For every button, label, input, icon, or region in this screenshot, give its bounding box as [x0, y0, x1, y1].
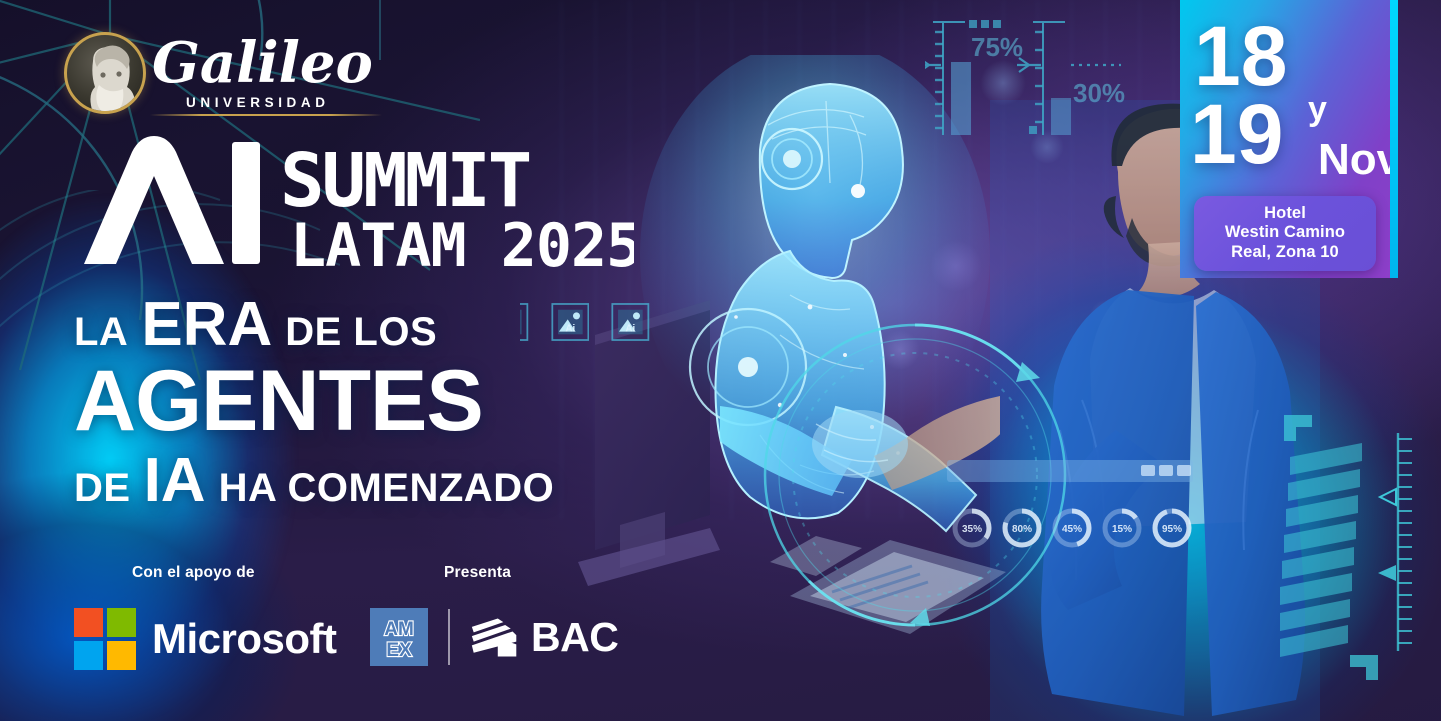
- hud-donut-label: 95%: [1162, 524, 1182, 535]
- sponsor-divider: [448, 609, 450, 665]
- bac-logo: BAC: [470, 614, 618, 661]
- hud-donut-gauges: 35%80%45%15%95%: [945, 460, 1195, 570]
- hud-donut-label: 45%: [1062, 524, 1082, 535]
- amex-mark-icon: AM EX: [370, 608, 428, 666]
- galileo-university-logo: Galileo UNIVERSIDAD: [64, 26, 394, 122]
- date-conjunction: y: [1308, 90, 1327, 129]
- logotype-latam-year: LATAM 2025: [290, 211, 634, 271]
- headline-la: LA: [74, 314, 128, 352]
- galileo-rule: [150, 114, 382, 116]
- headline-de-los: DE LOS: [285, 314, 437, 352]
- date-panel-edge: [1390, 0, 1398, 278]
- venue-line1: Hotel: [1200, 204, 1370, 223]
- presenting-sponsors: AM EX BAC: [370, 608, 618, 666]
- svg-text:Galileo: Galileo: [152, 30, 373, 96]
- hud-bar-label: 30%: [1073, 78, 1125, 108]
- amex-logo: AM EX: [370, 608, 428, 666]
- ai-summit-logotype: SUMMIT LATAM 2025: [74, 136, 634, 271]
- galileo-wordmark: Galileo: [150, 28, 390, 98]
- hud-slats: [1280, 415, 1441, 680]
- presents-label: Presenta: [444, 564, 511, 582]
- headline: LA ERA DE LOS AGENTES DE IA HA COMENZADO: [74, 296, 634, 510]
- event-banner: 75% 30% 35%80%45%15%95%: [0, 0, 1441, 721]
- headline-ha-comenzado: HA COMENZADO: [219, 470, 555, 508]
- galileo-subtitle: UNIVERSIDAD: [186, 95, 330, 110]
- hud-donut-label: 35%: [962, 524, 982, 535]
- headline-era: ERA: [141, 296, 272, 354]
- amex-line1: AM: [384, 619, 414, 640]
- hud-donut-label: 80%: [1012, 524, 1032, 535]
- microsoft-squares-icon: [74, 608, 136, 670]
- support-label: Con el apoyo de: [132, 564, 255, 582]
- microsoft-logo: Microsoft: [74, 608, 337, 670]
- galileo-seal: [64, 32, 146, 114]
- venue-line2: Westin Camino: [1200, 223, 1370, 242]
- date-day2: 19: [1190, 100, 1283, 169]
- bac-mark-icon: [470, 615, 520, 659]
- galileo-bust-icon: [79, 45, 137, 114]
- venue-badge: Hotel Westin Camino Real, Zona 10: [1194, 196, 1376, 271]
- headline-agentes: AGENTES: [74, 361, 483, 442]
- headline-ia: IA: [144, 452, 206, 510]
- date-day1: 18: [1194, 22, 1287, 91]
- microsoft-name: Microsoft: [152, 615, 337, 663]
- venue-line3: Real, Zona 10: [1200, 243, 1370, 262]
- date-panel: 18 y 19 Nov Hotel Westin Camino Real, Zo…: [1180, 0, 1390, 278]
- sponsors-section: Con el apoyo de Presenta Microsoft AM EX: [74, 556, 634, 676]
- date-month: Nov: [1318, 135, 1390, 185]
- amex-line2: EX: [386, 640, 412, 661]
- hud-donut-label: 15%: [1112, 524, 1132, 535]
- hud-bar-label: 75%: [971, 32, 1023, 62]
- bac-name: BAC: [531, 614, 618, 661]
- headline-de: DE: [74, 470, 131, 508]
- hud-bar-gauges: 75% 30%: [925, 10, 1155, 150]
